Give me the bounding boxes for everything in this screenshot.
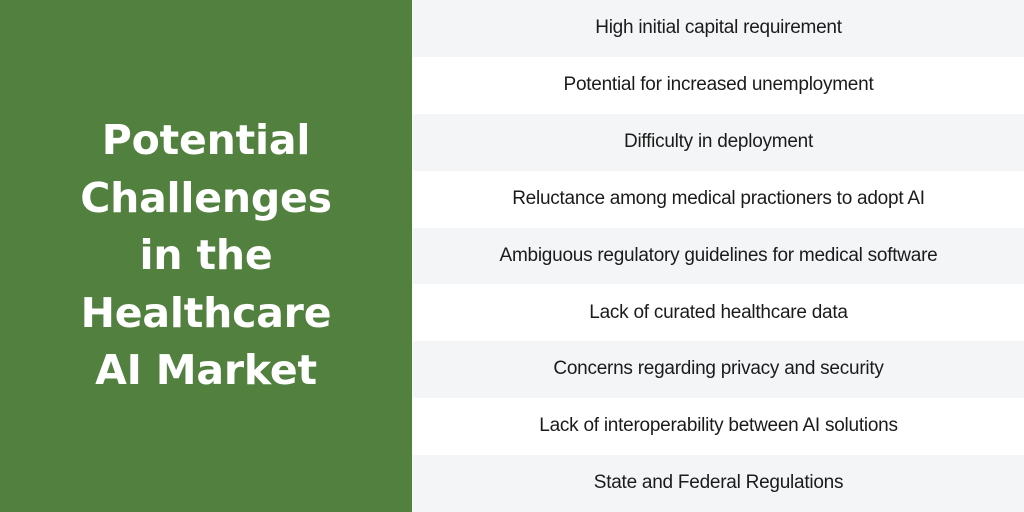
list-item-label: Potential for increased unemployment bbox=[564, 74, 874, 97]
page-title: Potential Challenges in the Healthcare A… bbox=[80, 112, 332, 400]
list-item: Difficulty in deployment bbox=[413, 114, 1024, 171]
list-item: Potential for increased unemployment bbox=[413, 57, 1024, 114]
infographic-root: Potential Challenges in the Healthcare A… bbox=[0, 0, 1024, 512]
list-item-label: State and Federal Regulations bbox=[594, 472, 843, 495]
list-item-label: Reluctance among medical practioners to … bbox=[512, 188, 925, 211]
list-item: Lack of curated healthcare data bbox=[413, 284, 1024, 341]
title-panel: Potential Challenges in the Healthcare A… bbox=[0, 0, 412, 512]
list-item: High initial capital requirement bbox=[413, 0, 1024, 57]
list-item: Concerns regarding privacy and security bbox=[413, 341, 1024, 398]
list-item: Lack of interoperability between AI solu… bbox=[413, 398, 1024, 455]
list-item-label: Concerns regarding privacy and security bbox=[553, 358, 883, 381]
list-item-label: Ambiguous regulatory guidelines for medi… bbox=[500, 245, 938, 268]
list-item: Ambiguous regulatory guidelines for medi… bbox=[413, 228, 1024, 285]
list-item-label: Lack of interoperability between AI solu… bbox=[539, 415, 897, 438]
list-item: Reluctance among medical practioners to … bbox=[413, 171, 1024, 228]
list-item-label: Lack of curated healthcare data bbox=[589, 302, 847, 325]
list-item-label: Difficulty in deployment bbox=[624, 131, 813, 154]
challenge-list: High initial capital requirement Potenti… bbox=[412, 0, 1024, 512]
list-item: State and Federal Regulations bbox=[413, 455, 1024, 512]
list-item-label: High initial capital requirement bbox=[595, 17, 842, 40]
